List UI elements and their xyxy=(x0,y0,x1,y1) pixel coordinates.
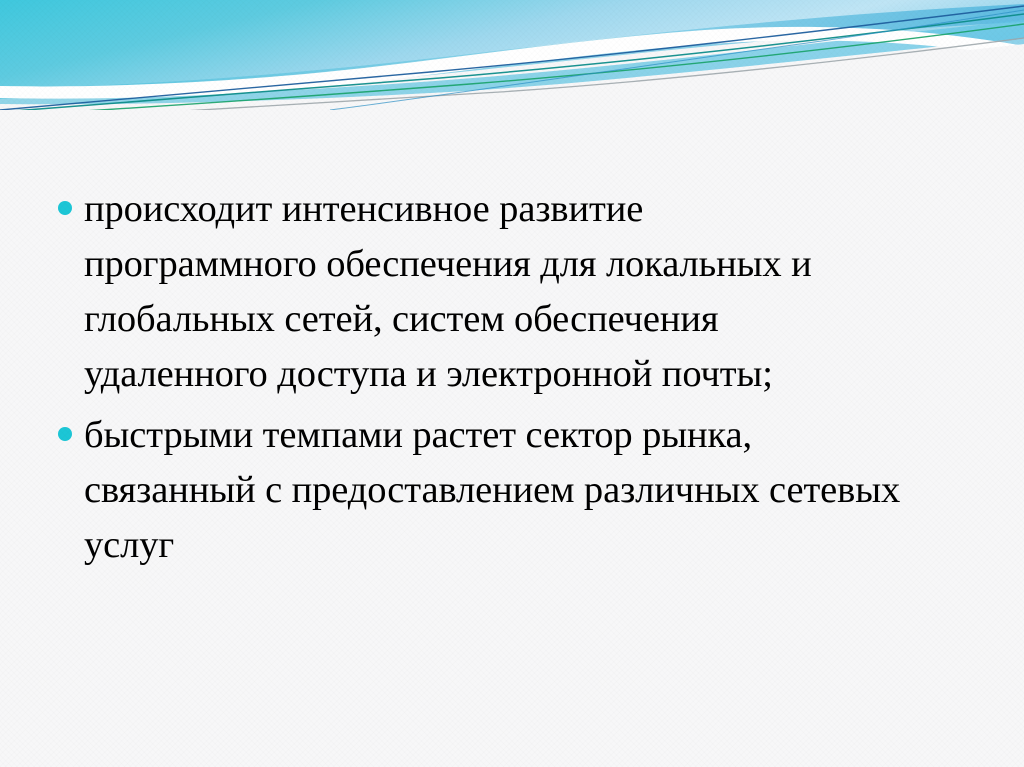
slide-body-text: происходит интенсивное развитие программ… xyxy=(58,182,978,579)
bullet-dot-icon xyxy=(58,201,72,215)
wave-layers xyxy=(0,0,1024,110)
bullet-dot-icon xyxy=(58,427,72,441)
list-item: происходит интенсивное развитие программ… xyxy=(58,182,978,402)
wave-graphic xyxy=(0,0,1024,110)
decorative-wave-banner xyxy=(0,0,1024,110)
bullet-text: быстрыми темпами растет сектор рынка, св… xyxy=(84,408,929,573)
presentation-slide: происходит интенсивное развитие программ… xyxy=(0,0,1024,767)
bullet-text: происходит интенсивное развитие программ… xyxy=(84,182,884,402)
list-item: быстрыми темпами растет сектор рынка, св… xyxy=(58,408,978,573)
